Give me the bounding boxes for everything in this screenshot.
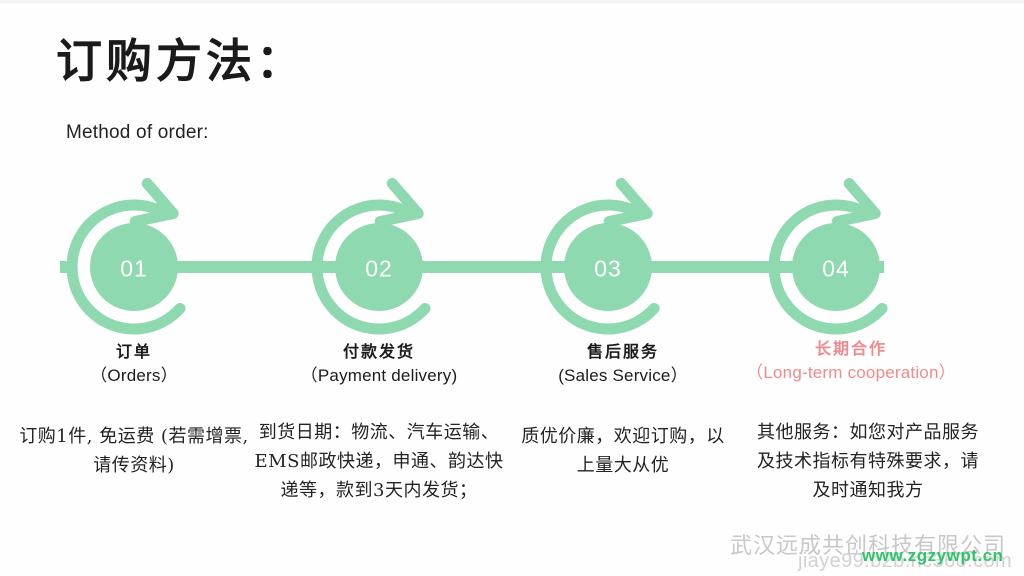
step-description-01: 订购1件, 免运费 (若需增票, 请传资料) [19,422,249,480]
step-description-04: 其他服务：如您对产品服务及技术指标有特殊要求，请及时通知我方 [754,418,982,505]
top-edge-strip [0,0,1024,3]
slide-canvas: 订购方法： Method of order: 01020304 订单 （Orde… [0,0,1024,576]
step-circle-01[interactable] [90,223,178,311]
step-circle-02[interactable] [335,223,423,311]
step-circle-03[interactable] [564,223,652,311]
page-title-en: Method of order: [66,122,209,144]
page-title-cn: 订购方法： [56,36,306,87]
process-diagram: 01020304 [0,170,1024,340]
step-descriptions-row: 订购1件, 免运费 (若需增票, 请传资料) 到货日期：物流、汽车运输、EMS邮… [0,414,1024,544]
step-label-04: 长期合作 （Long-term cooperation） [701,339,1001,386]
step-circle-04[interactable] [792,223,880,311]
step-label-cn: 长期合作 [701,339,1001,359]
process-diagram-graphic [0,170,1024,340]
watermark-site-url: www.zgzywpt.cn [862,546,1003,566]
step-label-en: （Long-term cooperation） [701,361,1001,386]
step-labels-row: 订单 （Orders） 付款发货 （Payment delivery) 售后服务… [0,342,1024,402]
step-description-03: 质优价廉，欢迎订购，以上量大从优 [518,422,728,480]
step-description-02: 到货日期：物流、汽车运输、EMS邮政快递，申通、韵达快递等，款到3天内发货； [251,418,507,505]
connector-stub-right [874,261,884,273]
